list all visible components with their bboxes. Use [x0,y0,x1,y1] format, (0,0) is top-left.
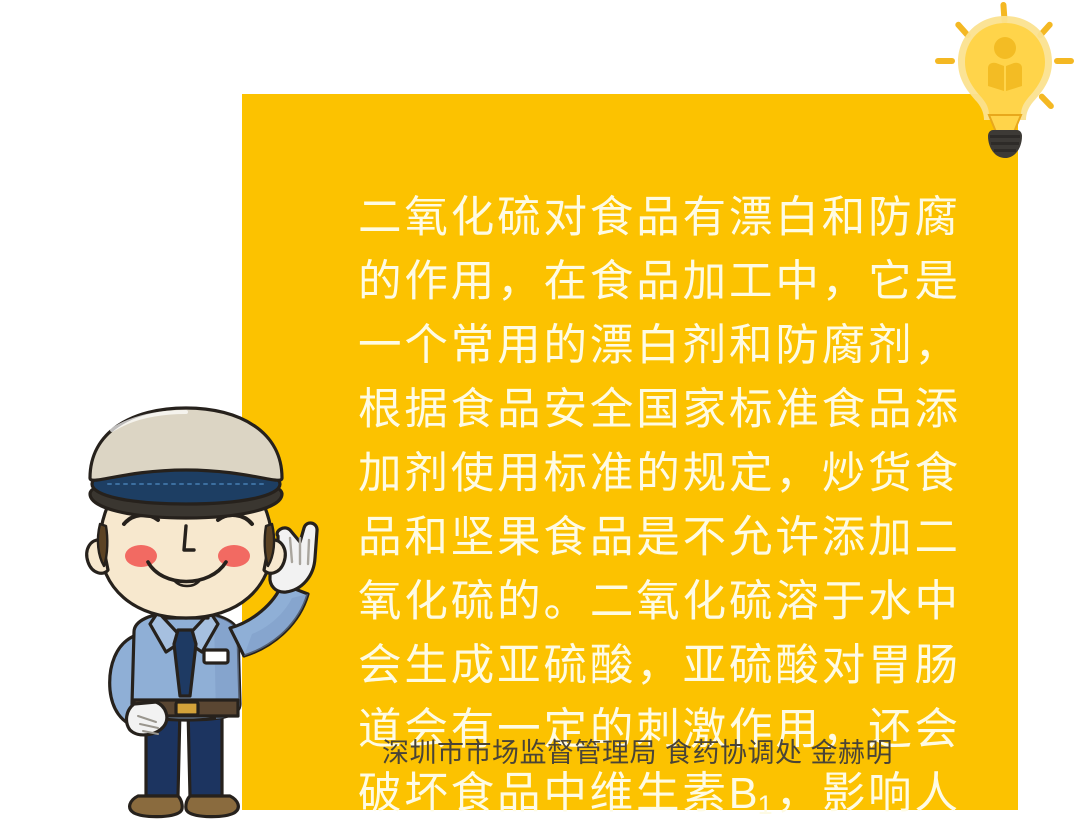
vitamin-b-subscript: 1 [758,790,773,820]
body-paragraph: 二氧化硫对食品有漂白和防腐的作用，在食品加工中，它是一个常用的漂白剂和防腐剂，根… [358,186,958,829]
lightbulb-neck [989,115,1021,132]
attribution-line: 深圳市市场监督管理局 食药协调处 金赫明 [382,736,982,770]
lightbulb-base [988,130,1022,158]
poster-canvas: 二氧化硫对食品有漂白和防腐的作用，在食品加工中，它是一个常用的漂白剂和防腐剂，根… [0,0,1080,829]
traffic-police-officer-illustration [38,404,338,829]
body-text-part-1: 二氧化硫对食品有漂白和防腐的作用，在食品加工中，它是一个常用的漂白剂和防腐剂，根… [358,194,958,818]
lightbulb-idea-icon [930,0,1080,172]
